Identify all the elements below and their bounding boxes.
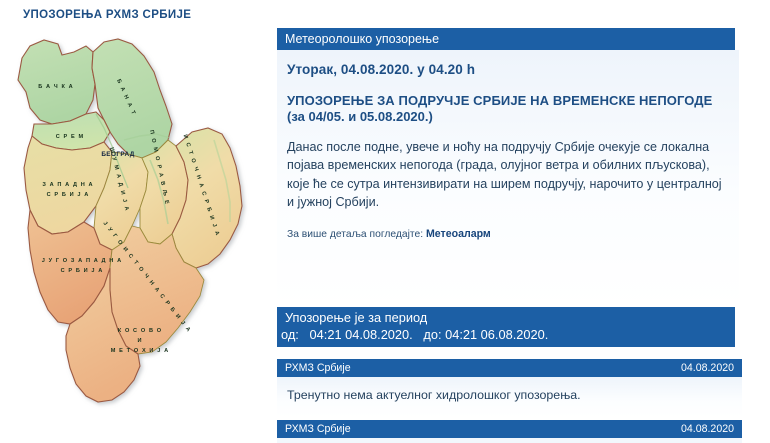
hydro-warning-date: 04.08.2020 [681, 359, 734, 377]
region-backa [18, 40, 95, 124]
map-label-srem: С Р Е М [56, 134, 85, 140]
meteo-warning-title: УПОЗОРЕЊЕ ЗА ПОДРУЧЈЕ СРБИЈЕ НА ВРЕМЕНСК… [287, 93, 729, 109]
map-label-zapadna-srbija-2: С Р Б И Ј А [47, 192, 90, 198]
third-warning-date: 04.08.2020 [681, 420, 734, 438]
period-from-value: 04:21 04.08.2020. [310, 327, 413, 342]
map-label-kosovo-1: К О С О В О [118, 328, 162, 334]
hydro-warning-body: Тренутно нема актуелног хидролошког упоз… [277, 377, 742, 417]
period-from-label: од: [281, 327, 299, 342]
map-label-jugozapadna-srbija-2: С Р Б И Ј А [61, 268, 104, 274]
more-details-line: За више детаља погледајте: Метеоаларм [287, 228, 729, 240]
hydro-warning-text: Тренутно нема актуелног хидролошког упоз… [287, 388, 581, 402]
meteo-date-line: Уторак, 04.08.2020. у 04.20 h [287, 62, 729, 77]
map-label-backa: Б А Ч К А [38, 84, 74, 90]
meteo-warning-subtitle: (за 04/05. и 05.08.2020.) [287, 109, 729, 124]
hydro-warning-source: РХМЗ Србије [285, 362, 351, 374]
map-label-zapadna-srbija-1: З А П А Д Н А [42, 182, 93, 188]
warning-period-block: Упозорење је за период од: 04:21 04.08.2… [277, 307, 735, 347]
meteo-warning-header-label: Метеоролошко упозорење [285, 32, 439, 46]
map-svg: Б А Ч К А Б А Н А Т С Р Е М БЕОГРАД З А … [0, 28, 272, 433]
map-label-kosovo-3: М Е Т О Х И Ј А [111, 348, 169, 354]
map-label-jugozapadna-srbija-1: Ј У Г О З А П А Д Н А [42, 258, 122, 264]
map-label-beograd: БЕОГРАД [101, 151, 134, 158]
meteo-warning-header: Метеоролошко упозорење [277, 28, 735, 50]
third-warning-body [277, 438, 742, 443]
meteo-warning-body: Уторак, 04.08.2020. у 04.20 h УПОЗОРЕЊЕ … [277, 50, 739, 308]
warning-period-range: од: 04:21 04.08.2020. до: 04:21 06.08.20… [281, 326, 735, 343]
more-details-prefix: За више детаља погледајте: [287, 229, 423, 240]
hydro-warning-header: РХМЗ Србије 04.08.2020 [277, 359, 742, 377]
warnings-column: Метеоролошко упозорење Уторак, 04.08.202… [277, 0, 770, 443]
meteoalarm-link[interactable]: Метеоаларм [426, 228, 491, 240]
third-warning-header: РХМЗ Србије 04.08.2020 [277, 420, 742, 438]
map-label-kosovo-2: И [137, 338, 142, 344]
meteo-warning-text: Данас после подне, увече и ноћу на подру… [287, 138, 729, 212]
page-title: УПОЗОРЕЊА РХМЗ СРБИЈЕ [23, 9, 191, 21]
warning-period-title: Упозорење је за период [285, 310, 735, 326]
serbia-regions-map: Б А Ч К А Б А Н А Т С Р Е М БЕОГРАД З А … [0, 28, 272, 433]
third-warning-source: РХМЗ Србије [285, 423, 351, 435]
period-to-label: до: [423, 327, 441, 342]
period-to-value: 04:21 06.08.2020. [445, 327, 548, 342]
